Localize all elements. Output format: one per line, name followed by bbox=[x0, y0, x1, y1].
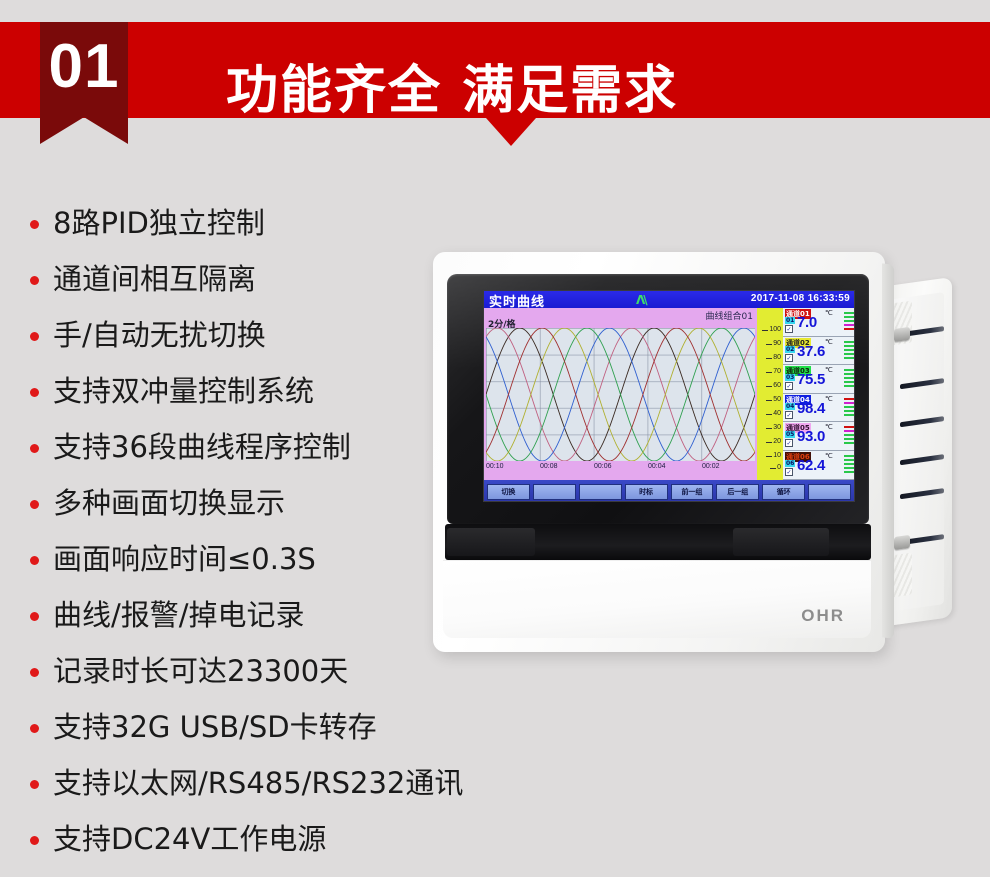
bargraph-segment bbox=[844, 349, 854, 351]
channel-number-badge: 05 bbox=[785, 431, 795, 438]
channel-value-readout: 98.4 bbox=[797, 400, 825, 417]
soft-button-blank-2[interactable] bbox=[579, 484, 622, 500]
section-number: 01 bbox=[49, 36, 120, 98]
channel-enable-checkbox[interactable]: ✓ bbox=[785, 439, 793, 447]
bezel-side-edge bbox=[882, 263, 894, 638]
bullet-dot-icon bbox=[30, 276, 39, 285]
channel-value-readout: 7.0 bbox=[797, 314, 817, 331]
soft-button-5[interactable]: 后一组 bbox=[716, 484, 759, 500]
feature-label: 支持双冲量控制系统 bbox=[53, 376, 314, 408]
mounting-screw-icon bbox=[894, 535, 910, 550]
bargraph-segment bbox=[844, 320, 854, 322]
bullet-dot-icon bbox=[30, 724, 39, 733]
y-tick-label: 50 bbox=[773, 396, 781, 403]
bargraph-segment bbox=[844, 328, 854, 330]
bracket-slot bbox=[900, 378, 944, 389]
channel-unit-label: ℃ bbox=[825, 452, 833, 460]
channel-unit-label: ℃ bbox=[825, 366, 833, 374]
bullet-dot-icon bbox=[30, 332, 39, 341]
device-photo: 实时曲线 Λ\ 2017-11-08 16:33:59 2分/格 曲线组合01 bbox=[425, 252, 985, 672]
plot-header: 2分/格 曲线组合01 bbox=[484, 308, 757, 330]
bullet-dot-icon bbox=[30, 836, 39, 845]
feature-label: 支持以太网/RS485/RS232通讯 bbox=[53, 768, 463, 800]
trend-plot[interactable]: 2分/格 曲线组合01 00:10 00:08 00:06 00:04 bbox=[484, 308, 757, 480]
list-item: 支持36段曲线程序控制 bbox=[30, 420, 450, 476]
curve-通道04 bbox=[486, 328, 755, 461]
feature-label: 支持DC24V工作电源 bbox=[53, 824, 326, 856]
feature-label: 支持32G USB/SD卡转存 bbox=[53, 712, 377, 744]
bargraph-segment bbox=[844, 426, 854, 428]
y-tick-label: 80 bbox=[773, 354, 781, 361]
bargraph-segment bbox=[844, 377, 854, 379]
channel-enable-checkbox[interactable]: ✓ bbox=[785, 468, 793, 476]
device-bezel: 实时曲线 Λ\ 2017-11-08 16:33:59 2分/格 曲线组合01 bbox=[433, 252, 885, 652]
channel-enable-checkbox[interactable]: ✓ bbox=[785, 411, 793, 419]
list-item: 支持双冲量控制系统 bbox=[30, 364, 450, 420]
channel-unit-label: ℃ bbox=[825, 395, 833, 403]
soft-button-6[interactable]: 循环 bbox=[762, 484, 805, 500]
bargraph-segment bbox=[844, 410, 854, 412]
channel-number-badge: 01 bbox=[785, 317, 795, 324]
list-item: 手/自动无扰切换 bbox=[30, 308, 450, 364]
y-tick-label: 10 bbox=[773, 452, 781, 459]
soft-button-3[interactable]: 时标 bbox=[625, 484, 668, 500]
bargraph-segment bbox=[844, 463, 854, 465]
brand-logo: OHR bbox=[801, 606, 845, 626]
channel-row[interactable]: 通道06℃06✓62.4 bbox=[783, 451, 855, 480]
y-axis-scale: 100 90 80 70 60 50 40 30 20 10 0 bbox=[757, 308, 783, 480]
soft-button-4[interactable]: 前一组 bbox=[671, 484, 714, 500]
lcd-title-bar: 实时曲线 Λ\ 2017-11-08 16:33:59 bbox=[484, 291, 854, 308]
x-tick-label: 00:02 bbox=[702, 463, 720, 470]
banner-arrow bbox=[486, 118, 536, 146]
list-item: 记录时长可达23300天 bbox=[30, 644, 450, 700]
bargraph-segment bbox=[844, 471, 854, 473]
bargraph-segment bbox=[844, 406, 854, 408]
channel-bargraph bbox=[844, 369, 854, 390]
list-item: 支持DC24V工作电源 bbox=[30, 812, 450, 868]
banner-title: 功能齐全 满足需求 bbox=[226, 56, 678, 126]
bullet-dot-icon bbox=[30, 444, 39, 453]
channel-bargraph bbox=[844, 455, 854, 476]
y-tick-label: 100 bbox=[769, 326, 781, 333]
bargraph-segment bbox=[844, 312, 854, 314]
feature-list: 8路PID独立控制 通道间相互隔离 手/自动无扰切换 支持双冲量控制系统 支持3… bbox=[30, 196, 450, 868]
bullet-dot-icon bbox=[30, 220, 39, 229]
channel-unit-label: ℃ bbox=[825, 338, 833, 346]
channel-value-readout: 62.4 bbox=[797, 457, 825, 474]
channel-number-badge: 06 bbox=[785, 460, 795, 467]
y-tick-label: 90 bbox=[773, 340, 781, 347]
screen-housing: 实时曲线 Λ\ 2017-11-08 16:33:59 2分/格 曲线组合01 bbox=[447, 274, 869, 524]
bargraph-segment bbox=[844, 414, 854, 416]
feature-label: 支持36段曲线程序控制 bbox=[53, 432, 351, 464]
feature-label: 手/自动无扰切换 bbox=[53, 320, 266, 352]
bargraph-segment bbox=[844, 434, 854, 436]
channel-number-badge: 03 bbox=[785, 374, 795, 381]
bargraph-segment bbox=[844, 324, 854, 326]
list-item: 多种画面切换显示 bbox=[30, 476, 450, 532]
mounting-screw-icon bbox=[894, 327, 910, 342]
channel-enable-checkbox[interactable]: ✓ bbox=[785, 354, 793, 362]
bracket-slot bbox=[900, 488, 944, 499]
bargraph-segment bbox=[844, 381, 854, 383]
bargraph-segment bbox=[844, 373, 854, 375]
bracket-slot bbox=[900, 416, 944, 427]
bargraph-segment bbox=[844, 341, 854, 343]
front-port-cover-left bbox=[447, 528, 535, 556]
soft-button-blank-1[interactable] bbox=[533, 484, 576, 500]
bargraph-segment bbox=[844, 316, 854, 318]
plot-grid bbox=[486, 328, 755, 461]
bargraph-segment bbox=[844, 442, 854, 444]
channel-row[interactable]: 通道04℃04✓98.4 bbox=[783, 394, 855, 423]
wave-logo-icon: Λ\ bbox=[636, 293, 646, 307]
list-item: 8路PID独立控制 bbox=[30, 196, 450, 252]
bargraph-segment bbox=[844, 402, 854, 404]
soft-button-bar: 切换时标前一组后一组循环 bbox=[484, 480, 854, 502]
channel-row[interactable]: 通道05℃05✓93.0 bbox=[783, 422, 855, 451]
y-tick-label: 0 bbox=[777, 464, 781, 471]
bullet-dot-icon bbox=[30, 668, 39, 677]
bargraph-segment bbox=[844, 385, 854, 387]
x-tick-label: 00:10 bbox=[486, 463, 504, 470]
soft-button-blank-7[interactable] bbox=[808, 484, 851, 500]
channel-bargraph bbox=[844, 398, 854, 419]
bargraph-segment bbox=[844, 398, 854, 400]
channel-bargraph bbox=[844, 341, 854, 362]
x-tick-label: 00:08 bbox=[540, 463, 558, 470]
housing-lower-strip bbox=[445, 524, 871, 560]
channel-number-badge: 04 bbox=[785, 403, 795, 410]
bargraph-segment bbox=[844, 353, 854, 355]
list-item: 曲线/报警/掉电记录 bbox=[30, 588, 450, 644]
channel-unit-label: ℃ bbox=[825, 423, 833, 431]
channel-bargraph bbox=[844, 312, 854, 333]
channel-unit-label: ℃ bbox=[825, 309, 833, 317]
y-tick-label: 40 bbox=[773, 410, 781, 417]
channel-bargraph bbox=[844, 426, 854, 447]
front-port-cover-right bbox=[733, 528, 829, 556]
channel-number-badge: 02 bbox=[785, 346, 795, 353]
section-number-ribbon: 01 bbox=[40, 22, 128, 144]
header-banner: 功能齐全 满足需求 bbox=[0, 22, 990, 118]
bargraph-segment bbox=[844, 345, 854, 347]
bullet-dot-icon bbox=[30, 612, 39, 621]
y-tick-label: 30 bbox=[773, 424, 781, 431]
lcd-screen[interactable]: 实时曲线 Λ\ 2017-11-08 16:33:59 2分/格 曲线组合01 bbox=[483, 290, 855, 502]
bullet-dot-icon bbox=[30, 388, 39, 397]
bullet-dot-icon bbox=[30, 780, 39, 789]
bracket-slot bbox=[900, 454, 944, 465]
list-item: 支持32G USB/SD卡转存 bbox=[30, 700, 450, 756]
feature-label: 多种画面切换显示 bbox=[53, 488, 285, 520]
y-tick-label: 70 bbox=[773, 368, 781, 375]
x-axis: 00:10 00:08 00:06 00:04 00:02 bbox=[486, 463, 755, 477]
list-item: 画面响应时间≤0.3S bbox=[30, 532, 450, 588]
channel-row[interactable]: 通道02℃02✓37.6 bbox=[783, 337, 855, 366]
lcd-body: 2分/格 曲线组合01 00:10 00:08 00:06 00:04 bbox=[484, 308, 854, 480]
bargraph-segment bbox=[844, 459, 854, 461]
channel-panel[interactable]: 通道01℃01✓7.0通道02℃02✓37.6通道03℃03✓75.5通道04℃… bbox=[783, 308, 855, 480]
soft-button-0[interactable]: 切换 bbox=[487, 484, 530, 500]
feature-label: 通道间相互隔离 bbox=[53, 264, 256, 296]
bullet-dot-icon bbox=[30, 556, 39, 565]
channel-enable-checkbox[interactable]: ✓ bbox=[785, 382, 793, 390]
y-tick-label: 60 bbox=[773, 382, 781, 389]
feature-label: 曲线/报警/掉电记录 bbox=[53, 600, 305, 632]
channel-value-readout: 37.6 bbox=[797, 343, 825, 360]
feature-label: 记录时长可达23300天 bbox=[53, 656, 348, 688]
curve-group-label: 曲线组合01 bbox=[706, 309, 753, 322]
promo-page: 功能齐全 满足需求 01 8路PID独立控制 通道间相互隔离 手/自动无扰切换 … bbox=[0, 0, 990, 877]
list-item: 通道间相互隔离 bbox=[30, 252, 450, 308]
bargraph-segment bbox=[844, 455, 854, 457]
channel-enable-checkbox[interactable]: ✓ bbox=[785, 325, 793, 333]
bargraph-segment bbox=[844, 430, 854, 432]
bargraph-segment bbox=[844, 467, 854, 469]
bracket-face bbox=[888, 292, 944, 612]
feature-label: 画面响应时间≤0.3S bbox=[53, 544, 316, 576]
front-door-panel[interactable]: OHR bbox=[443, 560, 871, 638]
clock-readout: 2017-11-08 16:33:59 bbox=[751, 293, 850, 304]
bargraph-segment bbox=[844, 357, 854, 359]
x-tick-label: 00:04 bbox=[648, 463, 666, 470]
trend-curves bbox=[486, 328, 755, 461]
y-tick-label: 20 bbox=[773, 438, 781, 445]
channel-row[interactable]: 通道03℃03✓75.5 bbox=[783, 365, 855, 394]
bullet-dot-icon bbox=[30, 500, 39, 509]
channel-value-readout: 93.0 bbox=[797, 428, 825, 445]
feature-label: 8路PID独立控制 bbox=[53, 208, 265, 240]
list-item: 支持以太网/RS485/RS232通讯 bbox=[30, 756, 450, 812]
bargraph-segment bbox=[844, 369, 854, 371]
channel-row[interactable]: 通道01℃01✓7.0 bbox=[783, 308, 855, 337]
channel-value-readout: 75.5 bbox=[797, 371, 825, 388]
x-tick-label: 00:06 bbox=[594, 463, 612, 470]
bargraph-segment bbox=[844, 438, 854, 440]
